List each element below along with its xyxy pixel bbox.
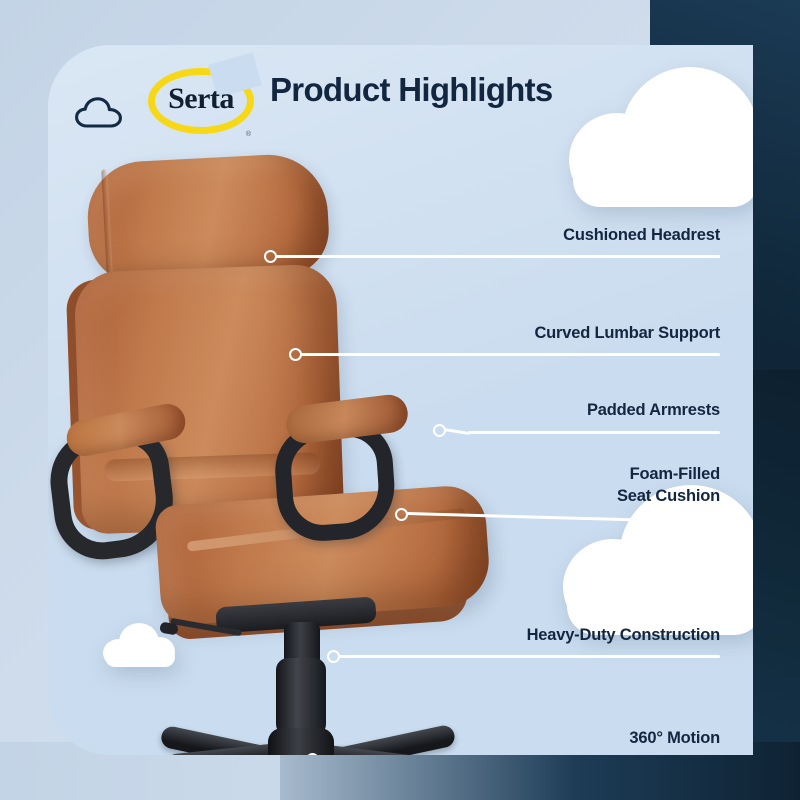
callout-marker-curved-lumbar-support[interactable] <box>289 348 302 361</box>
callout-label-line: Padded Armrests <box>370 399 720 421</box>
highlights-panel: Serta ® Product Highlights <box>48 45 753 755</box>
cloud-outline-icon <box>75 97 123 134</box>
callout-label-line: Foam-Filled <box>370 463 720 485</box>
callout-label-padded-armrests: Padded Armrests <box>370 399 720 421</box>
callout-leader-line-heavy-duty-construction <box>339 655 720 658</box>
callout-label-line: 360° Motion <box>370 727 720 749</box>
chair-gas-cylinder <box>276 658 326 736</box>
serta-wordmark: Serta <box>148 82 254 116</box>
cloud-top-right-decoration <box>569 67 753 207</box>
callout-label-360-motion: 360° Motion <box>370 727 720 749</box>
callout-label-line: Seat Cushion <box>370 485 720 507</box>
callout-underline-cushioned-headrest <box>276 255 720 258</box>
callout-marker-padded-armrests[interactable] <box>433 424 446 437</box>
registered-trademark-mark: ® <box>246 131 251 138</box>
cloud-bottom-left-decoration <box>103 623 175 667</box>
callout-marker-heavy-duty-construction[interactable] <box>327 650 340 663</box>
callout-label-cushioned-headrest: Cushioned Headrest <box>370 224 720 246</box>
page-title: Product Highlights <box>270 71 553 109</box>
callout-marker-cushioned-headrest[interactable] <box>264 250 277 263</box>
callout-label-curved-lumbar-support: Curved Lumbar Support <box>370 322 720 344</box>
callout-label-line: Cushioned Headrest <box>370 224 720 246</box>
headrest-seam <box>101 169 113 277</box>
callout-label-heavy-duty-construction: Heavy-Duty Construction <box>370 624 720 646</box>
cloud-bottom-right-decoration <box>563 485 753 635</box>
chair-base-hub <box>268 728 334 755</box>
callout-leader-line-curved-lumbar-support <box>301 353 720 356</box>
callout-marker-foam-filled-seat-cushion[interactable] <box>395 508 408 521</box>
serta-logo: Serta ® <box>148 62 254 140</box>
callout-label-foam-filled-seat-cushion: Foam-Filled Seat Cushion <box>370 463 720 507</box>
callout-leader-line-padded-armrests <box>468 431 720 434</box>
callout-label-line: Heavy-Duty Construction <box>370 624 720 646</box>
callout-label-line: Curved Lumbar Support <box>370 322 720 344</box>
